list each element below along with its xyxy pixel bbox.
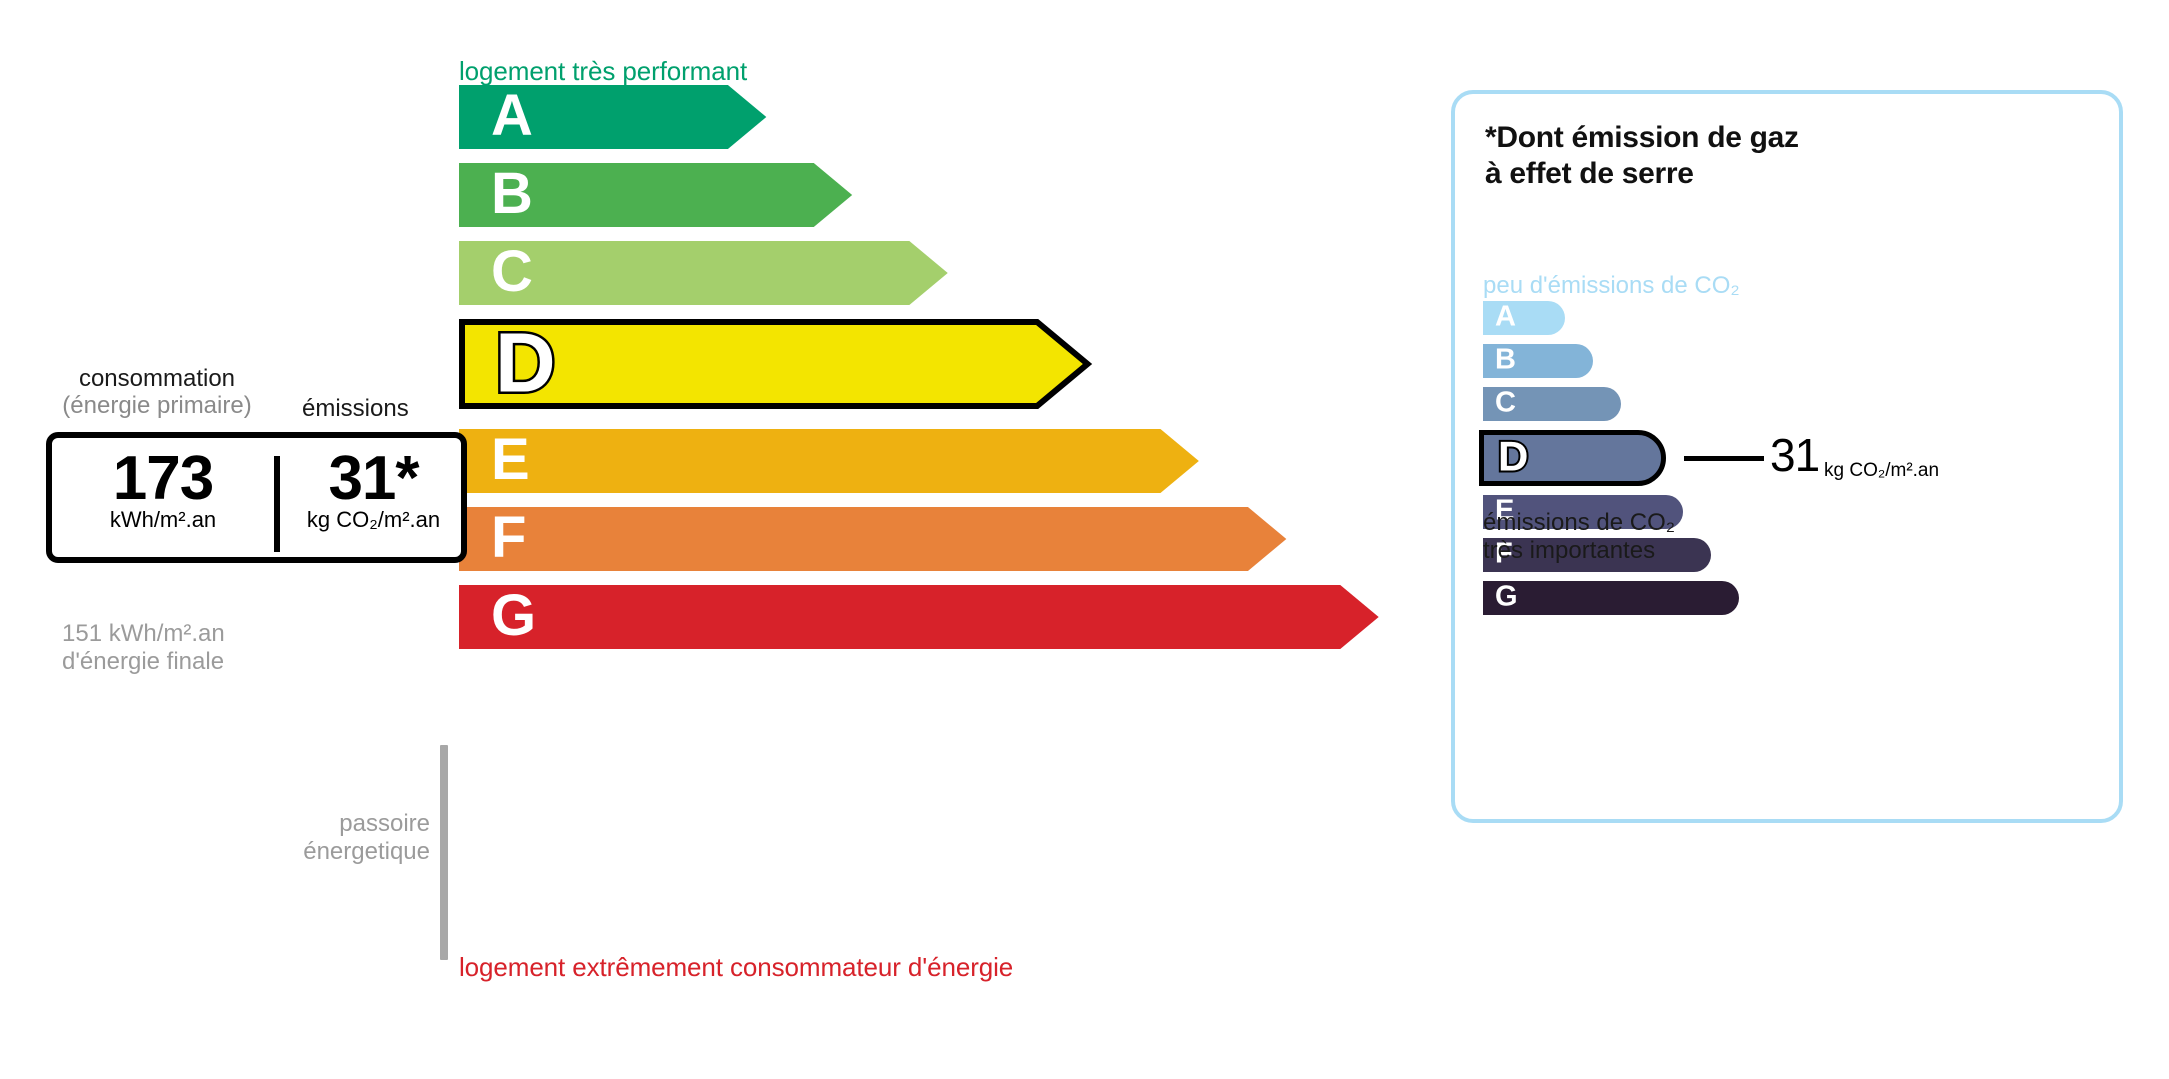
emissions-unit: kg CO₂/m².an	[280, 508, 467, 532]
co2-title-line1: *Dont émission de gaz	[1485, 120, 1799, 156]
energy-band-e[interactable]: E	[459, 429, 1199, 493]
scale-bottom-label: logement extrêmement consommateur d'éner…	[459, 952, 1013, 983]
energy-band-c[interactable]: C	[459, 241, 948, 305]
energy-band-shape-g	[459, 585, 1379, 649]
energy-unit: kWh/m².an	[52, 508, 274, 532]
co2-bar-b[interactable]: B	[1483, 344, 1593, 378]
co2-value: 31	[1770, 432, 1819, 478]
energy-band-shape-f	[459, 507, 1286, 571]
energy-band-letter-c: C	[491, 243, 533, 301]
energy-value-cell: 173 kWh/m².an	[52, 446, 274, 532]
value-box: 173 kWh/m².an 31* kg CO₂/m².an	[46, 432, 467, 563]
co2-title-line2: à effet de serre	[1485, 156, 1799, 192]
co2-bar-c[interactable]: C	[1483, 387, 1621, 421]
co2-bar-a[interactable]: A	[1483, 301, 1565, 335]
emissions-value-cell: 31* kg CO₂/m².an	[280, 446, 467, 532]
energy-band-a[interactable]: A	[459, 85, 766, 149]
co2-bar-d[interactable]: D	[1479, 430, 1666, 486]
final-energy-note-line1: 151 kWh/m².an	[62, 620, 225, 648]
co2-bar-letter-g: G	[1495, 583, 1518, 612]
passoire-bracket	[440, 745, 448, 960]
consumption-caption-sub: (énergie primaire)	[46, 393, 268, 420]
energy-band-letter-g: G	[491, 587, 536, 645]
energy-band-b[interactable]: B	[459, 163, 852, 227]
consumption-caption-main: consommation	[79, 365, 235, 392]
co2-bar-letter-c: C	[1495, 389, 1516, 418]
co2-leader-line	[1684, 456, 1764, 461]
energy-band-shape-e	[459, 429, 1199, 493]
passoire-label: passoire énergetique	[230, 810, 430, 866]
co2-bar-letter-a: A	[1495, 303, 1516, 332]
co2-panel-title: *Dont émission de gaz à effet de serre	[1485, 120, 1799, 192]
energy-band-g[interactable]: G	[459, 585, 1379, 649]
co2-bottom-label-line2: très importantes	[1483, 537, 1675, 565]
emissions-caption: émissions	[302, 396, 409, 423]
final-energy-note: 151 kWh/m².an d'énergie finale	[62, 620, 225, 676]
final-energy-note-line2: d'énergie finale	[62, 648, 225, 676]
energy-band-letter-a: A	[491, 87, 533, 145]
energy-value: 173	[52, 446, 274, 511]
co2-top-label: peu d'émissions de CO₂	[1483, 272, 1740, 300]
dpe-diagram: logement très performant ABCDEFG logemen…	[0, 0, 2169, 1079]
consumption-caption: consommation (énergie primaire)	[46, 366, 268, 420]
passoire-label-line1: passoire	[230, 810, 430, 838]
co2-bottom-label-line1: émissions de CO₂	[1483, 509, 1675, 537]
energy-band-d[interactable]: D	[459, 319, 1091, 409]
energy-band-f[interactable]: F	[459, 507, 1286, 571]
co2-bottom-label: émissions de CO₂ très importantes	[1483, 509, 1675, 566]
co2-bar-letter-d: D	[1498, 436, 1528, 478]
passoire-label-line2: énergetique	[230, 838, 430, 866]
co2-bar-letter-b: B	[1495, 346, 1516, 375]
emissions-value: 31*	[280, 446, 467, 511]
co2-panel: *Dont émission de gaz à effet de serre p…	[1451, 90, 2123, 823]
energy-band-letter-f: F	[491, 509, 526, 567]
energy-band-letter-e: E	[491, 431, 530, 489]
co2-value-unit: kg CO₂/m².an	[1824, 460, 1939, 482]
co2-bar-g[interactable]: G	[1483, 581, 1739, 615]
energy-scale-panel: logement très performant ABCDEFG logemen…	[0, 0, 1380, 1079]
energy-band-letter-b: B	[491, 165, 533, 223]
energy-band-letter-d: D	[495, 320, 556, 404]
